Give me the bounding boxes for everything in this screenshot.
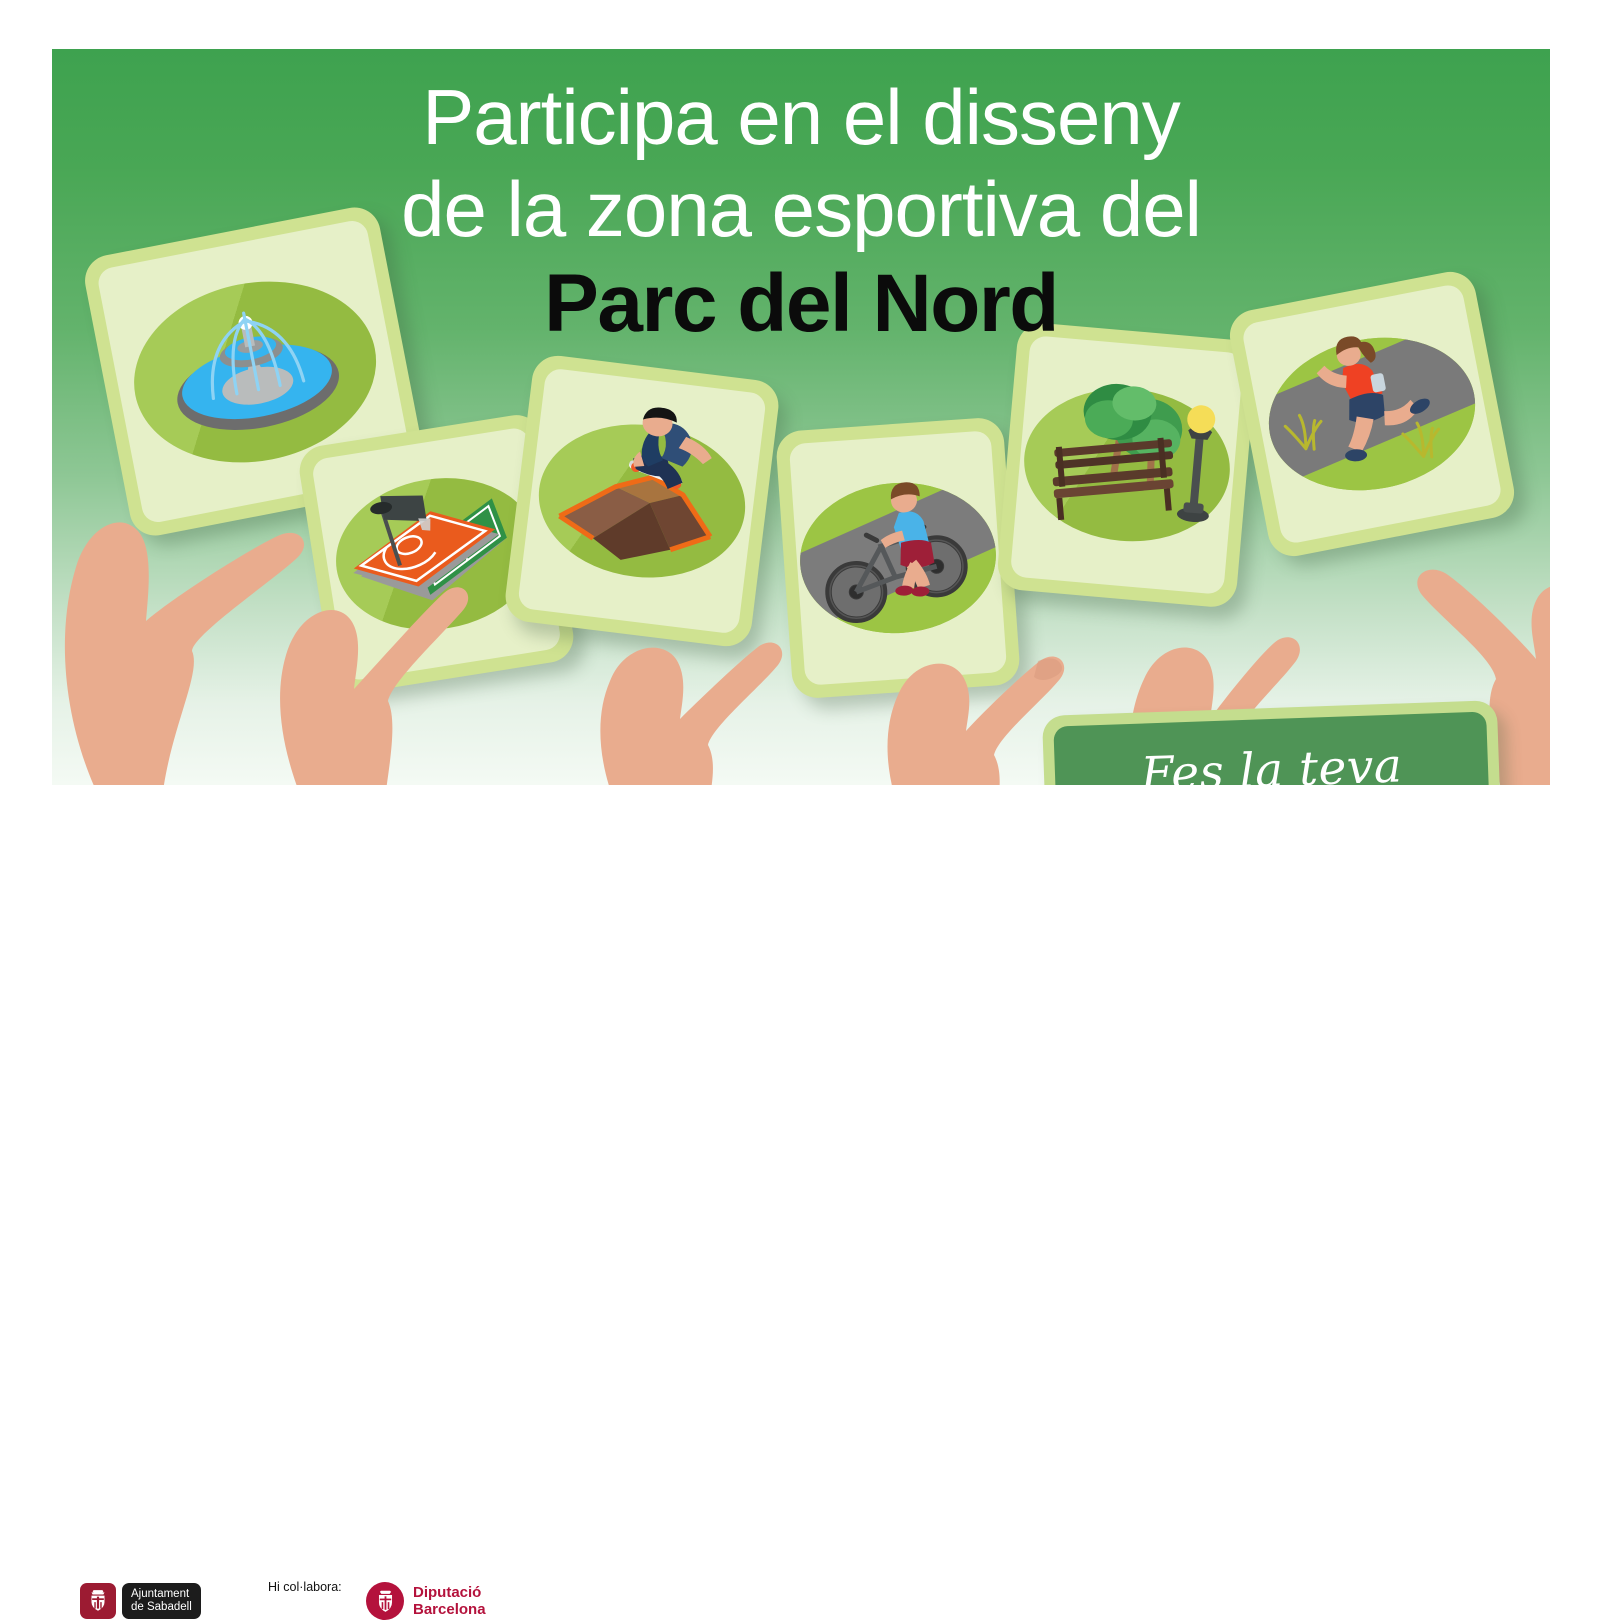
headline-line-1: Participa en el disseny: [52, 71, 1550, 163]
hand-center-left: [552, 519, 852, 785]
diputacio-shield-icon: [366, 1582, 404, 1620]
grass-tuft-icon: [1284, 412, 1326, 454]
runner-figure: [1311, 323, 1440, 467]
sabadell-shield-icon: [80, 1583, 116, 1619]
lamp-post-icon: [1176, 404, 1218, 523]
poster-panel: Participa en el disseny de la zona espor…: [52, 49, 1550, 785]
diputacio-line-1: Diputació: [413, 1584, 486, 1601]
callout-line-1: Fes la teva: [1140, 738, 1403, 785]
callout-box[interactable]: Fes la teva aportació!: [1042, 700, 1503, 785]
footer-bar: Ajuntament de Sabadell Hi col·labora: Di…: [0, 785, 1600, 900]
callout-text: Fes la teva aportació!: [1140, 738, 1405, 785]
hand-left-inner: [228, 459, 528, 785]
sabadell-line-1: Ajuntament: [131, 1588, 192, 1601]
grass-tuft-icon: [1401, 419, 1443, 461]
callout-inner: Fes la teva aportació!: [1053, 711, 1491, 785]
collaboration-label: Hi col·labora:: [268, 1580, 342, 1594]
sabadell-line-2: de Sabadell: [131, 1601, 192, 1614]
sabadell-wordmark: Ajuntament de Sabadell: [122, 1583, 201, 1619]
bench-icon: [1044, 427, 1184, 531]
logo-diputacio-barcelona[interactable]: Diputació Barcelona: [366, 1580, 486, 1622]
diputacio-wordmark: Diputació Barcelona: [413, 1584, 486, 1618]
poster-root: Participa en el disseny de la zona espor…: [0, 0, 1600, 900]
logo-ajuntament-sabadell[interactable]: Ajuntament de Sabadell: [80, 1583, 201, 1619]
diputacio-line-2: Barcelona: [413, 1601, 486, 1618]
